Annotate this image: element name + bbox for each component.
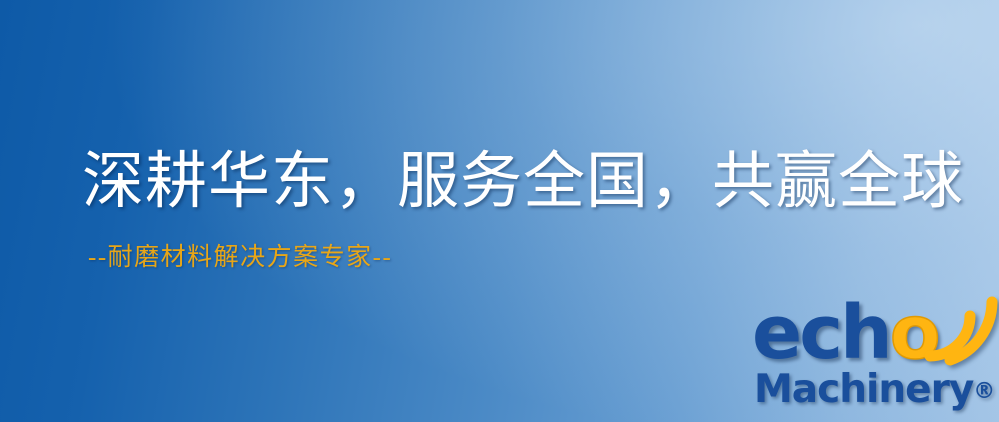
- company-logo: echo Machinery®: [752, 296, 999, 422]
- registered-trademark-icon: ®: [973, 379, 995, 404]
- logo-wordmark-blue: ech: [752, 290, 890, 376]
- banner-headline: 深耕华东，服务全国，共赢全球: [82, 148, 942, 217]
- banner-text-block: 深耕华东，服务全国，共赢全球 --耐磨材料解决方案专家--: [82, 148, 942, 273]
- promotional-banner: 深耕华东，服务全国，共赢全球 --耐磨材料解决方案专家-- echo Machi…: [0, 0, 999, 422]
- logo-subword-text: Machinery: [754, 367, 973, 412]
- echo-waves-icon: [920, 294, 999, 366]
- logo-subword: Machinery®: [754, 370, 995, 409]
- banner-subtitle: --耐磨材料解决方案专家--: [88, 243, 942, 273]
- logo-wordmark: echo: [752, 296, 938, 370]
